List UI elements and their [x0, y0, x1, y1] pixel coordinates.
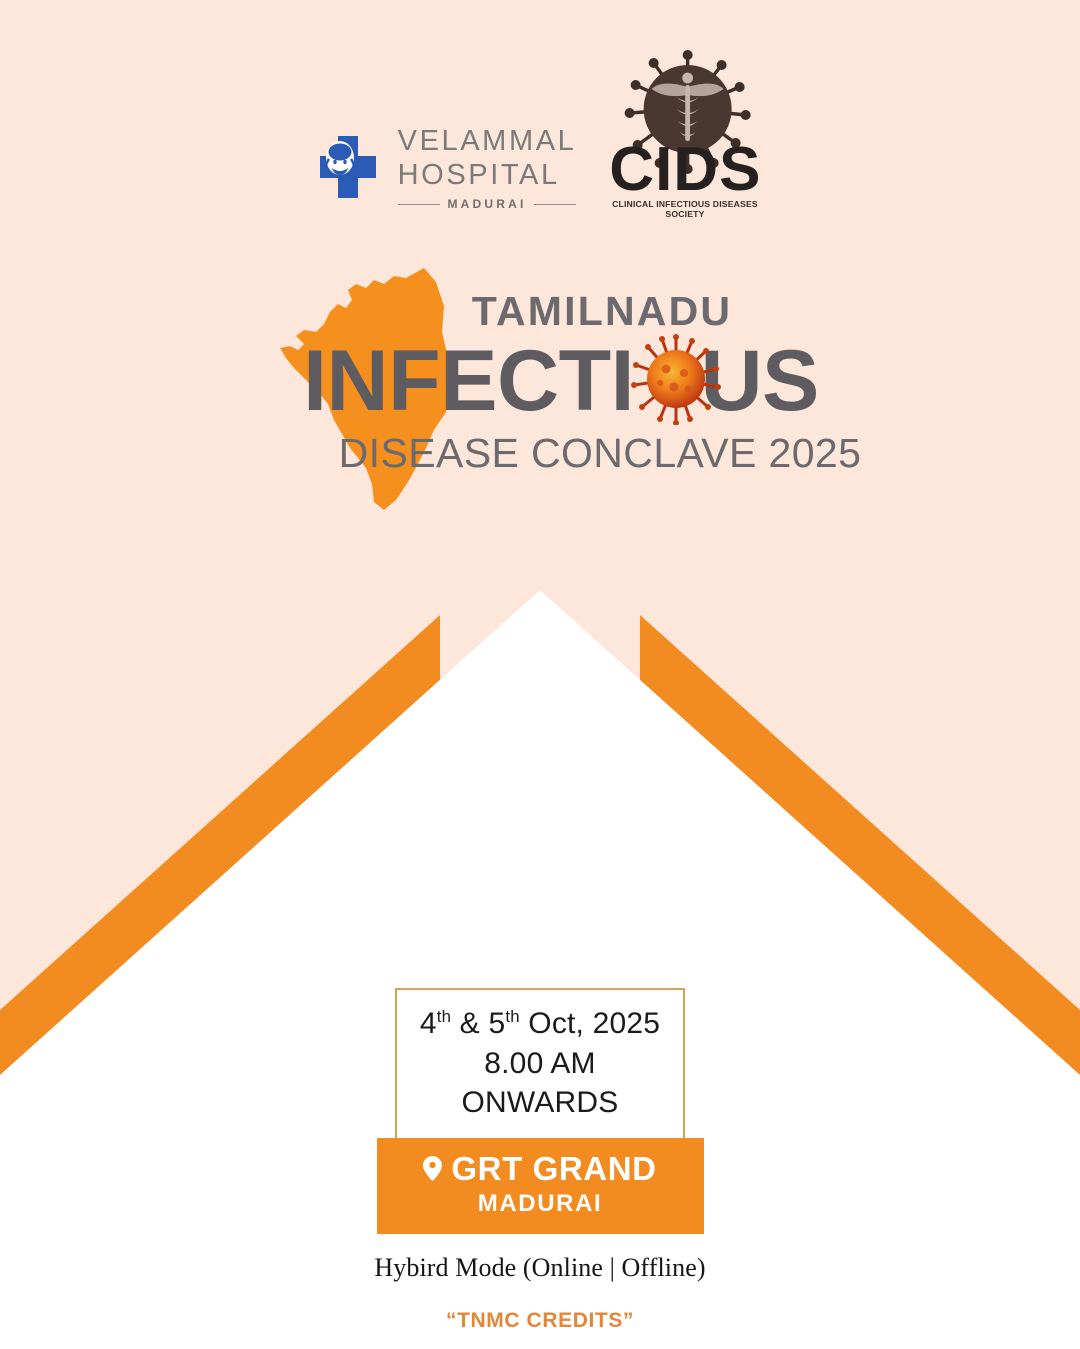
title-main-before: INFECTI	[303, 333, 634, 429]
sponsor-logo-row: VELAMMAL HOSPITAL MADURAI	[0, 44, 1080, 219]
velammal-wordmark: VELAMMAL HOSPITAL MADURAI	[398, 124, 577, 211]
date-time-box: 4th & 5th Oct, 2025 8.00 AM ONWARDS	[395, 988, 685, 1141]
virus-particle-icon	[630, 333, 722, 425]
velammal-sub-row: MADURAI	[398, 197, 577, 211]
date-day-2-ordinal: th	[505, 1007, 519, 1026]
title-main: INFECTIOUS	[0, 338, 1080, 424]
rule-left	[398, 204, 441, 205]
date-day-1-ordinal: th	[437, 1007, 451, 1026]
velammal-hospital-logo: VELAMMAL HOSPITAL MADURAI	[312, 124, 577, 219]
event-poster: VELAMMAL HOSPITAL MADURAI	[0, 0, 1080, 1349]
date-separator: &	[460, 1007, 480, 1040]
event-time: 8.00 AM ONWARDS	[407, 1044, 673, 1123]
title-subtitle: DISEASE CONCLAVE 2025	[0, 430, 1080, 477]
date-month-year: Oct, 2025	[528, 1007, 660, 1040]
cids-acronym: CIDS	[602, 139, 768, 201]
date-day-2: 5	[488, 1007, 505, 1040]
event-date: 4th & 5th Oct, 2025	[407, 1004, 673, 1044]
velammal-city: MADURAI	[447, 197, 526, 211]
title-eyebrow: TAMILNADU	[0, 288, 1080, 335]
venue-name: GRT GRAND	[451, 1151, 656, 1187]
venue-band: GRT GRAND MADURAI	[377, 1138, 704, 1234]
event-mode: Hybird Mode (Online | Offline)	[0, 1253, 1080, 1283]
velammal-line-1: VELAMMAL	[398, 124, 577, 158]
hospital-cross-portrait-icon	[312, 128, 384, 206]
rule-right	[534, 204, 577, 205]
venue-city: MADURAI	[387, 1190, 694, 1218]
date-day-1: 4	[420, 1007, 437, 1040]
venue-name-row: GRT GRAND	[387, 1151, 694, 1187]
event-title-block: TAMILNADU INFECTIOUS DISEASE CONCLAVE 20…	[0, 262, 1080, 522]
cids-logo: CIDS CLINICAL INFECTIOUS DISEASES SOCIET…	[602, 47, 768, 219]
event-details: 4th & 5th Oct, 2025 8.00 AM ONWARDS GRT …	[0, 988, 1080, 1333]
velammal-line-2: HOSPITAL	[398, 158, 560, 192]
tnmc-credits: “TNMC CREDITS”	[0, 1309, 1080, 1333]
cids-expansion: CLINICAL INFECTIOUS DISEASES SOCIETY	[601, 199, 770, 219]
location-pin-icon	[423, 1156, 442, 1181]
